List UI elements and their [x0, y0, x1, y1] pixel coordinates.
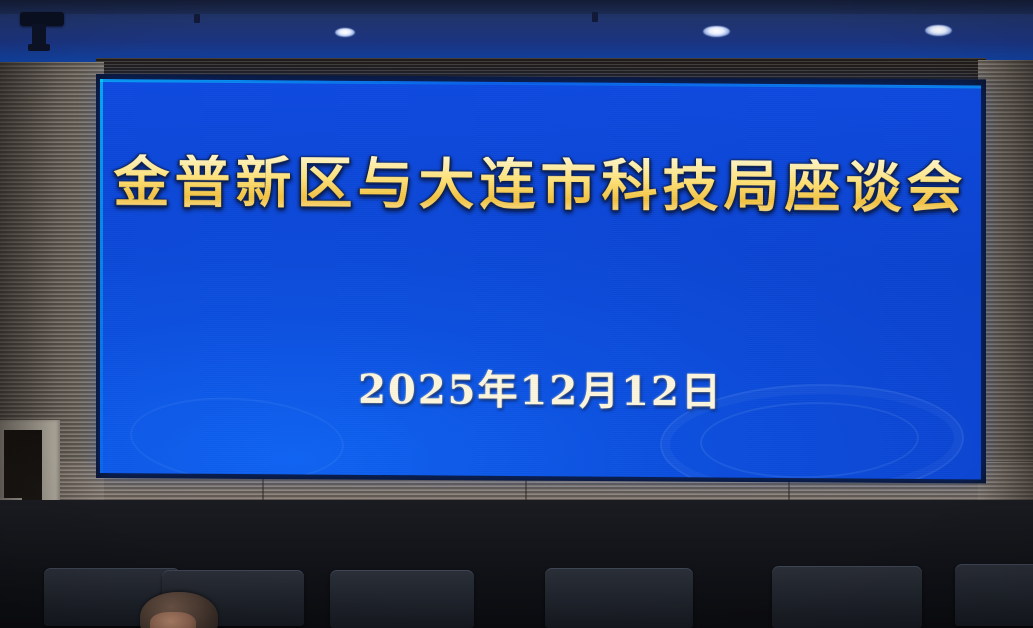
- conference-hall-photo: 金普新区与大连市科技局座谈会 2025年12月12日: [0, 0, 1033, 628]
- screen-left-edge: [100, 79, 103, 473]
- ceiling-downlight-1: [335, 28, 355, 37]
- slide-title: 金普新区与大连市科技局座谈会: [100, 154, 981, 219]
- seat: [955, 564, 1033, 626]
- slide-date: 2025年12月12日: [100, 355, 981, 419]
- ceiling-sensor-2: [592, 12, 598, 22]
- projector-mount-base: [28, 44, 50, 51]
- ceiling-downlight-2: [703, 26, 730, 37]
- seat: [772, 566, 922, 628]
- seated-attendee-face: [150, 612, 196, 628]
- led-screen[interactable]: 金普新区与大连市科技局座谈会 2025年12月12日: [100, 79, 981, 479]
- seat: [545, 568, 693, 628]
- ceiling-downlight-3: [925, 25, 952, 36]
- ceiling-sensor-1: [194, 14, 200, 23]
- seat: [330, 570, 474, 628]
- ceiling-slab: [0, 0, 1033, 14]
